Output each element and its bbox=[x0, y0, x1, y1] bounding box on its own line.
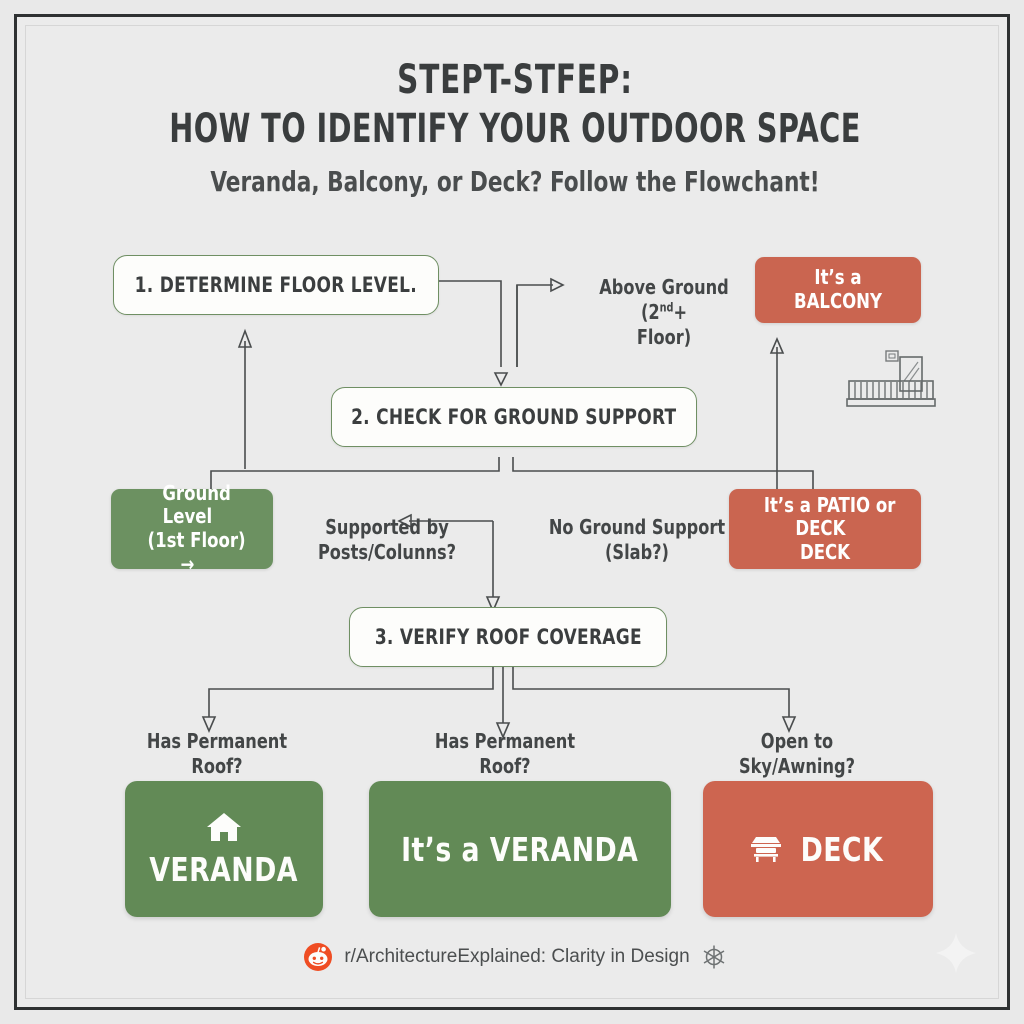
condition-supported-line2: Posts/Colunns? bbox=[299, 540, 475, 565]
result-card-veranda-text[interactable]: It’s a VERANDA bbox=[369, 781, 671, 917]
step-1-label: 1. DETERMINE FLOOR LEVEL. bbox=[135, 273, 417, 297]
branch-label-open-sky: Open to Sky/Awning? bbox=[705, 729, 889, 779]
outcome-patio-deck-label: It’s a PATIO or DECK DECK bbox=[737, 494, 914, 565]
condition-above-ground-line1: Above Ground (2nd+ bbox=[599, 275, 729, 324]
branch-label-roof-mid: Has Permanent Roof? bbox=[415, 729, 595, 779]
condition-supported-line1: Supported by bbox=[299, 515, 475, 540]
outcome-ground-level-label: Ground Level (1st Floor) → bbox=[117, 482, 266, 576]
ordinal-suffix: nd bbox=[660, 300, 674, 314]
compass-icon bbox=[700, 943, 728, 971]
result-label-veranda-text: It’s a VERANDA bbox=[401, 830, 638, 869]
condition-no-ground-support: No Ground Support (Slab?) bbox=[549, 515, 725, 565]
outcome-balcony-label: It’s a BALCONY bbox=[762, 266, 915, 313]
house-icon bbox=[204, 810, 244, 844]
condition-supported-posts: Supported by Posts/Colunns? bbox=[299, 515, 475, 565]
condition-no-ground-line1: No Ground Support bbox=[549, 515, 725, 540]
condition-above-ground: Above Ground (2nd+ Floor) bbox=[579, 275, 750, 350]
outcome-patio-deck-pill[interactable]: It’s a PATIO or DECK DECK bbox=[729, 489, 921, 569]
awning-icon bbox=[748, 834, 784, 864]
step-2-box[interactable]: 2. CHECK FOR GROUND SUPPORT bbox=[331, 387, 697, 447]
condition-no-ground-line2: (Slab?) bbox=[549, 540, 725, 565]
result-card-deck[interactable]: DECK bbox=[703, 781, 933, 917]
footer-credit-bar: r/ArchitectureExplained: Clarity in Desi… bbox=[17, 941, 1013, 973]
result-label-deck: DECK bbox=[801, 830, 884, 869]
condition-above-ground-line2: Floor) bbox=[637, 325, 691, 349]
step-3-box[interactable]: 3. VERIFY ROOF COVERAGE bbox=[349, 607, 667, 667]
footer-credit-text: r/ArchitectureExplained: Clarity in Desi… bbox=[344, 946, 689, 968]
reddit-logo-icon bbox=[302, 941, 334, 973]
outcome-balcony-pill[interactable]: It’s a BALCONY bbox=[755, 257, 921, 323]
result-label-veranda-icon: VERANDA bbox=[150, 850, 299, 889]
step-2-label: 2. CHECK FOR GROUND SUPPORT bbox=[351, 405, 676, 429]
step-1-box[interactable]: 1. DETERMINE FLOOR LEVEL. bbox=[113, 255, 439, 315]
step-3-label: 3. VERIFY ROOF COVERAGE bbox=[374, 625, 641, 649]
balcony-line-art bbox=[843, 349, 939, 413]
result-card-veranda-icon[interactable]: VERANDA bbox=[125, 781, 323, 917]
sparkle-icon bbox=[933, 930, 979, 981]
outcome-ground-level-pill[interactable]: Ground Level (1st Floor) → bbox=[111, 489, 273, 569]
poster-canvas: STEPT-STFEP: HOW TO IDENTIFY YOUR OUTDOO… bbox=[14, 14, 1010, 1010]
branch-label-roof-left: Has Permanent Roof? bbox=[127, 729, 307, 779]
